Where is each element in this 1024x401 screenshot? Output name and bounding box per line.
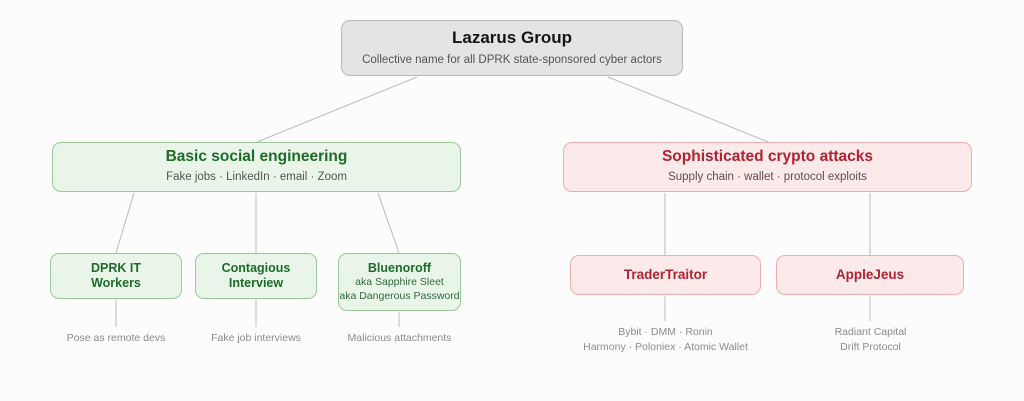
node-title: Basic social engineering <box>166 148 348 167</box>
node-alias-1: aka Sapphire Sleet <box>355 276 444 290</box>
node-dprk-it-workers[interactable]: DPRK IT Workers <box>50 253 182 299</box>
edge-root-to-social <box>257 77 417 142</box>
node-title-line1: DPRK IT <box>91 261 141 276</box>
edge-social-to-dprk <box>116 193 134 253</box>
node-title-line2: Interview <box>229 276 283 291</box>
node-contagious-interview[interactable]: Contagious Interview <box>195 253 317 299</box>
node-title-line2: Workers <box>91 276 141 291</box>
node-subtitle: Collective name for all DPRK state-spons… <box>362 53 662 68</box>
node-lazarus-group[interactable]: Lazarus Group Collective name for all DP… <box>341 20 683 76</box>
node-bluenoroff[interactable]: Bluenoroff aka Sapphire Sleet aka Danger… <box>338 253 461 311</box>
node-title: TraderTraitor <box>624 267 707 283</box>
caption-dprk-it-workers: Pose as remote devs <box>36 331 196 346</box>
edge-social-to-bluenoroff <box>378 193 399 253</box>
caption-tradertraitor: Bybit · DMM · Ronin Harmony · Poloniex ·… <box>575 325 756 355</box>
node-alias-2: aka Dangerous Password <box>339 290 459 304</box>
caption-bluenoroff: Malicious attachments <box>326 331 473 346</box>
edge-root-to-crypto <box>608 77 768 142</box>
node-subtitle: Fake jobs · LinkedIn · email · Zoom <box>166 170 347 185</box>
node-title: Sophisticated crypto attacks <box>662 148 873 167</box>
node-sophisticated-crypto-attacks[interactable]: Sophisticated crypto attacks Supply chai… <box>563 142 972 192</box>
caption-line-1: Radiant Capital <box>782 325 959 340</box>
node-title: Lazarus Group <box>452 28 572 49</box>
node-subtitle: Supply chain · wallet · protocol exploit… <box>668 170 867 185</box>
caption-line-1: Bybit · DMM · Ronin <box>575 325 756 340</box>
org-hierarchy-diagram: Lazarus Group Collective name for all DP… <box>0 0 1024 401</box>
node-title: AppleJeus <box>836 267 904 283</box>
caption-contagious-interview: Fake job interviews <box>186 331 326 346</box>
caption-line-2: Harmony · Poloniex · Atomic Wallet <box>575 340 756 355</box>
node-title: Bluenoroff <box>368 261 431 276</box>
caption-applejeus: Radiant Capital Drift Protocol <box>782 325 959 355</box>
node-basic-social-engineering[interactable]: Basic social engineering Fake jobs · Lin… <box>52 142 461 192</box>
node-title-line1: Contagious <box>222 261 291 276</box>
node-tradertraitor[interactable]: TraderTraitor <box>570 255 761 295</box>
node-applejeus[interactable]: AppleJeus <box>776 255 964 295</box>
caption-line-2: Drift Protocol <box>782 340 959 355</box>
